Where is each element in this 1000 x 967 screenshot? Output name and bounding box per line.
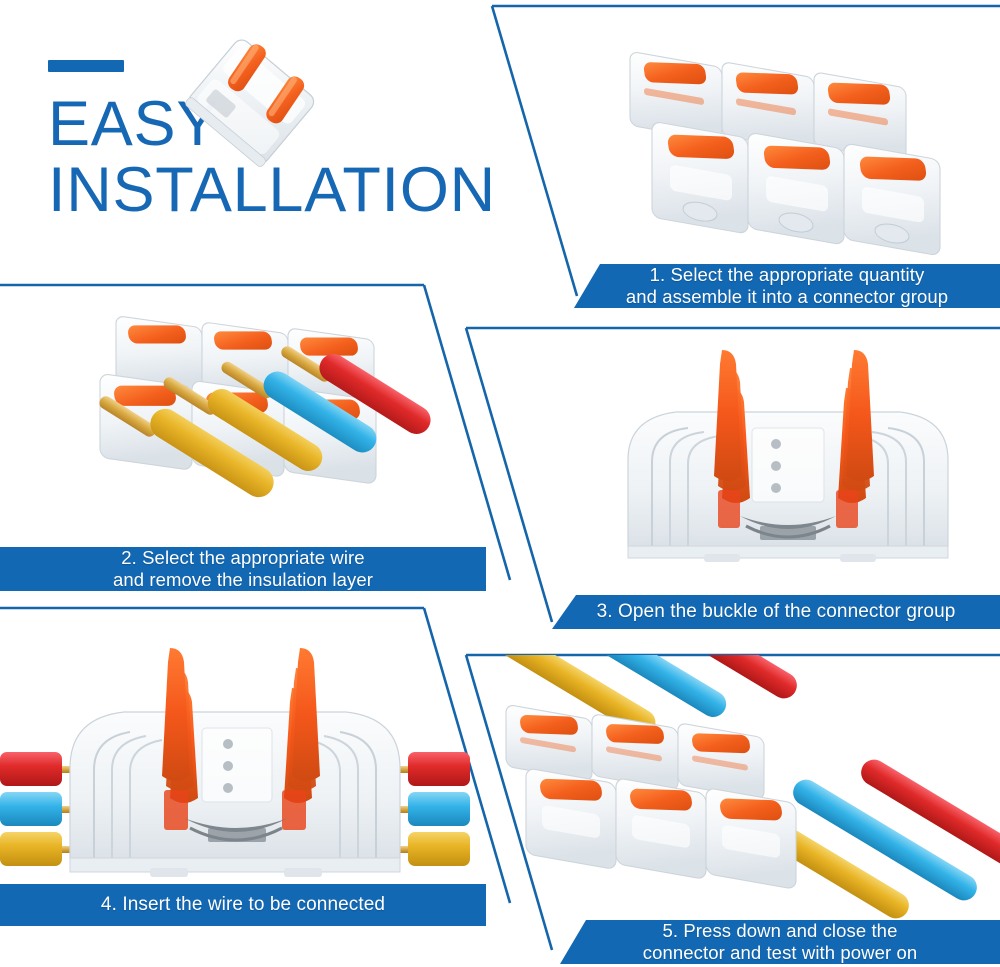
step-1-caption: 1. Select the appropriate quantity and a… (574, 264, 1000, 308)
step-4-photo (0, 618, 470, 888)
step-5-photo (460, 655, 1000, 925)
accent-rule (48, 60, 124, 72)
step-2-photo (50, 298, 450, 548)
step-5-caption-line-1: 5. Press down and close the (643, 920, 917, 942)
step-5-caption-line-2: connector and test with power on (643, 942, 917, 964)
step-1-photo (560, 18, 1000, 268)
step-3-photo (600, 340, 1000, 590)
step-5-caption: 5. Press down and close the connector an… (560, 920, 1000, 964)
step-2-caption: 2. Select the appropriate wire and remov… (0, 547, 486, 591)
step-3-caption: 3. Open the buckle of the connector grou… (552, 595, 1000, 629)
step-2-caption-line-1: 2. Select the appropriate wire (113, 547, 373, 569)
step-3-caption-line-1: 3. Open the buckle of the connector grou… (597, 601, 956, 623)
step-1-caption-line-2: and assemble it into a connector group (626, 286, 948, 308)
hero-product-image (170, 18, 330, 188)
step-2-caption-line-2: and remove the insulation layer (113, 569, 373, 591)
step-4-caption-line-1: 4. Insert the wire to be connected (101, 894, 385, 916)
step-4-caption: 4. Insert the wire to be connected (0, 884, 486, 926)
step-1-caption-line-1: 1. Select the appropriate quantity (626, 264, 948, 286)
infographic-canvas: EASY INSTALLATION (0, 0, 1000, 967)
